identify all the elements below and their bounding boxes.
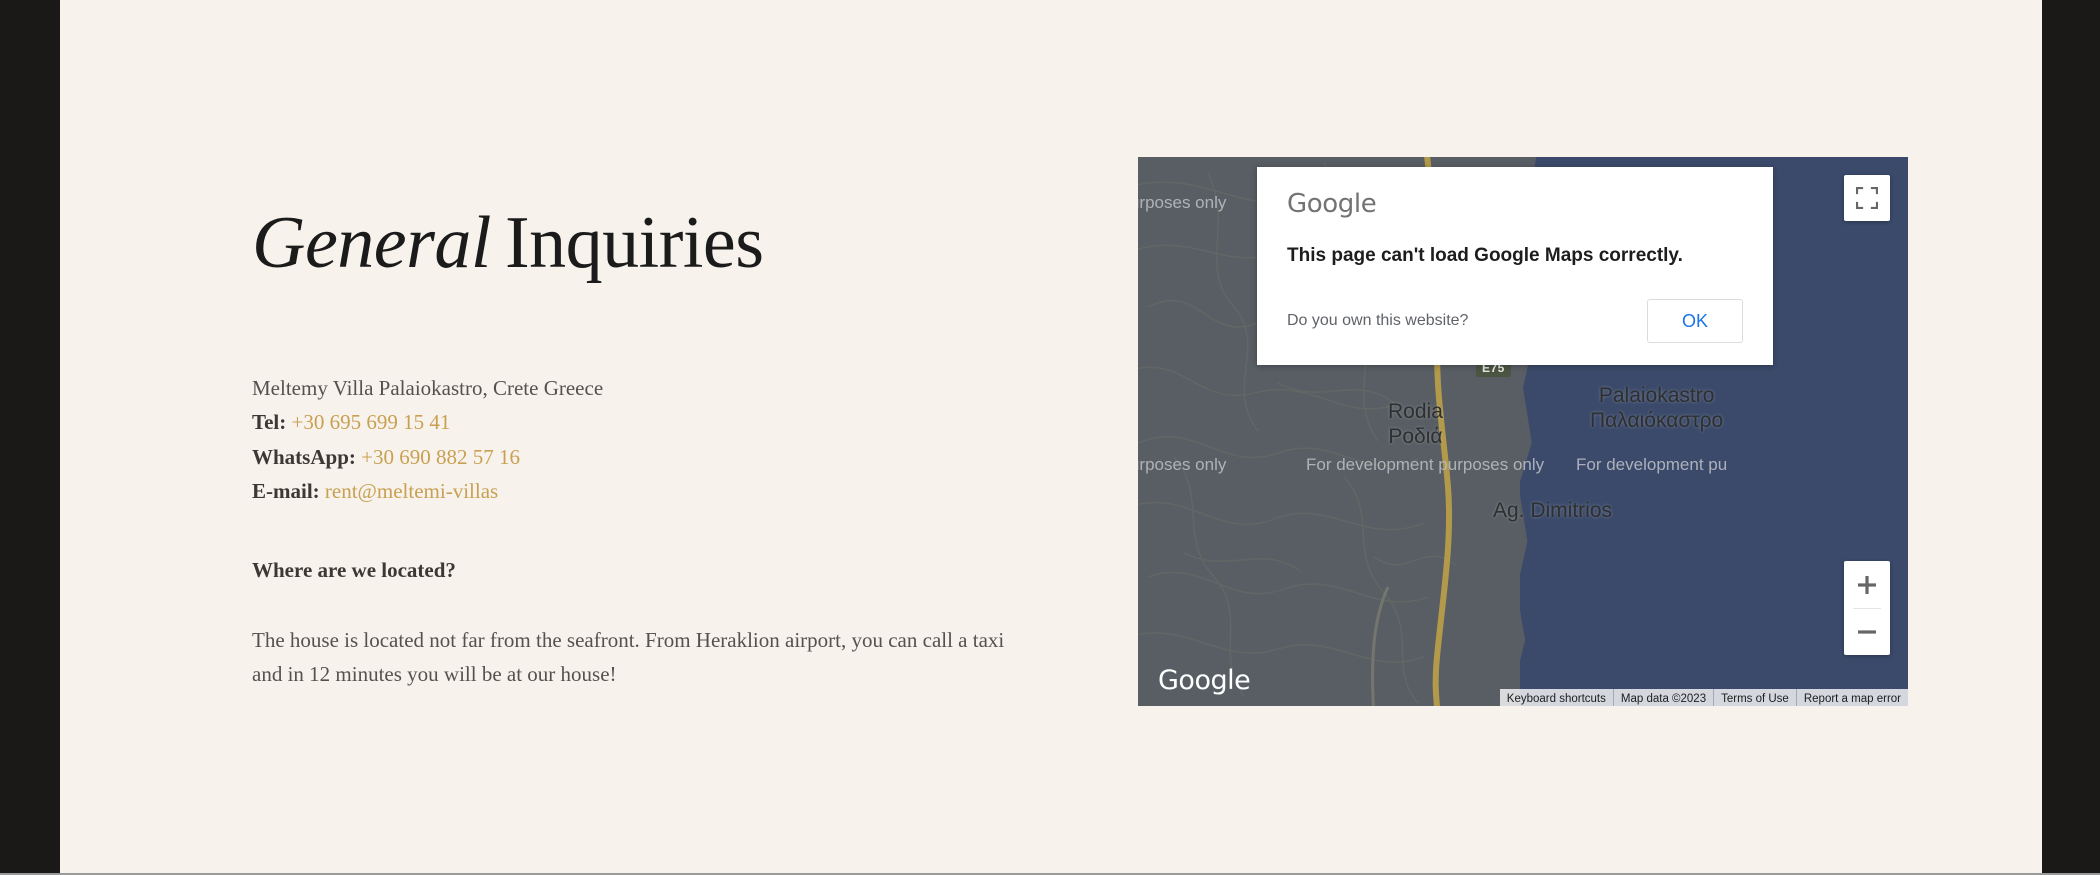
whatsapp-value[interactable]: +30 690 882 57 16 <box>361 445 520 469</box>
villa-address: Meltemy Villa Palaiokastro, Crete Greece <box>252 371 1042 406</box>
map-label-rodia: Rodia Ροδιά <box>1388 400 1443 450</box>
tel-value[interactable]: +30 695 699 15 41 <box>291 410 450 434</box>
map-attribution-bar: Keyboard shortcuts Map data ©2023 Terms … <box>1500 689 1908 706</box>
contact-row-whatsapp: WhatsApp: +30 690 882 57 16 <box>252 440 1042 475</box>
page-title: GeneralInquiries <box>252 205 1042 283</box>
email-value[interactable]: rent@meltemi-villas <box>325 479 498 503</box>
left-edge-bar <box>0 0 60 875</box>
whatsapp-label: WhatsApp: <box>252 445 356 469</box>
tel-label: Tel: <box>252 410 286 434</box>
fullscreen-button[interactable] <box>1844 175 1890 221</box>
contact-block: Meltemy Villa Palaiokastro, Crete Greece… <box>252 371 1042 509</box>
google-logo-watermark: Google <box>1158 665 1250 696</box>
map-label-palaiokastro-greek: Παλαιόκαστρο <box>1590 409 1723 434</box>
map-watermark-4: For development purposes only <box>1306 455 1544 475</box>
map-label-rodia-greek: Ροδιά <box>1388 425 1443 450</box>
plus-icon <box>1857 575 1877 595</box>
report-map-error-link[interactable]: Report a map error <box>1796 689 1908 706</box>
google-maps-error-dialog: Google This page can't load Google Maps … <box>1257 167 1773 365</box>
zoom-controls[interactable] <box>1844 561 1890 655</box>
contact-row-tel: Tel: +30 695 699 15 41 <box>252 405 1042 440</box>
minus-icon <box>1857 622 1877 642</box>
email-label: E-mail: <box>252 479 320 503</box>
google-dialog-logo: Google <box>1287 191 1743 217</box>
map-watermark-5: For development pu <box>1576 455 1727 475</box>
error-message: This page can't load Google Maps correct… <box>1287 243 1743 269</box>
own-website-question: Do you own this website? <box>1287 312 1468 330</box>
terms-of-use-link[interactable]: Terms of Use <box>1713 689 1796 706</box>
location-paragraph: The house is located not far from the se… <box>252 623 1012 692</box>
dialog-footer: Do you own this website? OK <box>1287 299 1743 343</box>
inquiries-content: GeneralInquiries Meltemy Villa Palaiokas… <box>252 205 1042 692</box>
map-data-copyright: Map data ©2023 <box>1613 689 1713 706</box>
map-label-rodia-latin: Rodia <box>1388 400 1443 425</box>
zoom-in-button[interactable] <box>1844 561 1890 608</box>
zoom-out-button[interactable] <box>1844 608 1890 655</box>
page-title-italic-word: General <box>252 202 505 284</box>
location-subheading: Where are we located? <box>252 553 1042 587</box>
right-edge-bar <box>2042 0 2100 875</box>
page-title-roman-word: Inquiries <box>505 202 764 284</box>
contact-row-email: E-mail: rent@meltemi-villas <box>252 474 1042 509</box>
keyboard-shortcuts-link[interactable]: Keyboard shortcuts <box>1500 689 1613 706</box>
map-watermark-1: ment purposes only <box>1138 193 1226 213</box>
map-label-ag-dimitrios: Ag. Dimitrios <box>1493 499 1612 524</box>
ok-button[interactable]: OK <box>1647 299 1743 343</box>
map-label-palaiokastro: Palaiokastro Παλαιόκαστρο <box>1590 384 1723 434</box>
map-label-palaiokastro-latin: Palaiokastro <box>1590 384 1723 409</box>
page-canvas: GeneralInquiries Meltemy Villa Palaiokas… <box>60 0 2042 875</box>
fullscreen-icon <box>1856 187 1878 209</box>
map-watermark-3: ment purposes only <box>1138 455 1226 475</box>
